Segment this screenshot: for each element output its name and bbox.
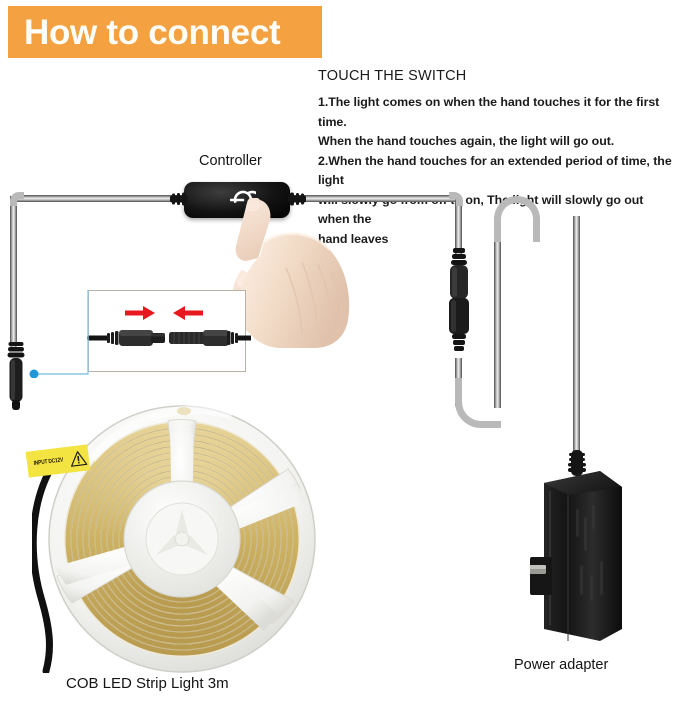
cable-adapter-drop bbox=[573, 216, 580, 471]
instruction-line: 2.When the hand touches for an extended … bbox=[318, 152, 676, 191]
controller-grommet-left bbox=[170, 191, 188, 207]
title-banner: How to connect bbox=[8, 6, 322, 58]
connector-leader-line bbox=[10, 288, 250, 378]
inline-dc-connector bbox=[446, 248, 472, 364]
warning-triangle-icon bbox=[69, 450, 88, 468]
cable-right-vertical-upper bbox=[455, 198, 462, 254]
instruction-line: When the hand touches again, the light w… bbox=[318, 132, 676, 152]
reel-label: COB LED Strip Light 3m bbox=[66, 675, 229, 692]
infographic-page: How to connect TOUCH THE SWITCH 1.The li… bbox=[0, 0, 679, 705]
cable-top-arch bbox=[494, 196, 540, 242]
page-title: How to connect bbox=[8, 15, 280, 50]
controller-label: Controller bbox=[199, 153, 262, 169]
warning-label-text: INPUT DC12V bbox=[33, 457, 63, 467]
cable-left-corner bbox=[10, 192, 24, 206]
adapter-label: Power adapter bbox=[514, 657, 608, 673]
instructions-heading: TOUCH THE SWITCH bbox=[318, 68, 676, 84]
strip-dc-plug bbox=[6, 340, 26, 416]
power-adapter bbox=[530, 465, 636, 645]
instruction-line: 1.The light comes on when the hand touch… bbox=[318, 93, 676, 132]
cable-u-right bbox=[494, 218, 501, 408]
cable-left-horizontal bbox=[13, 195, 188, 202]
